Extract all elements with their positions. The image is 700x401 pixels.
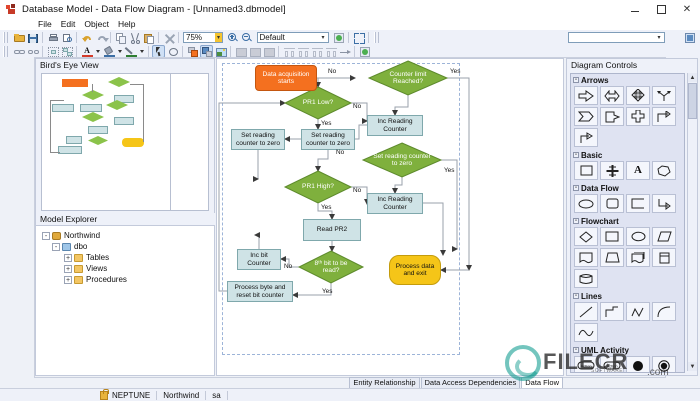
diagram-canvas[interactable]: Counter limit Reached? PR1 Low? Set read…	[216, 58, 564, 376]
toolbar-separator	[230, 46, 231, 57]
toolbar-area: 75% ▾ Default ▾ ▾	[0, 30, 700, 58]
zoom-out-icon[interactable]	[240, 31, 253, 44]
group-data-flow[interactable]: -Data Flow	[571, 182, 684, 194]
group-flowchart[interactable]: -Flowchart	[571, 215, 684, 227]
chevron-arrow-icon[interactable]	[574, 107, 598, 126]
chevron-down-icon[interactable]: ▾	[215, 33, 222, 42]
combobox-action-icon[interactable]	[683, 31, 696, 44]
edge-label-no: No	[328, 68, 336, 75]
print-preview-icon[interactable]	[60, 31, 73, 44]
tree-item-dbo[interactable]: - dbo	[36, 241, 214, 252]
align-left-icon[interactable]	[234, 45, 247, 58]
edge-label-no: No	[284, 263, 292, 270]
tree-expander-icon[interactable]: +	[64, 276, 72, 284]
link-icon[interactable]	[12, 45, 25, 58]
chevron-down-icon[interactable]: ▾	[319, 33, 328, 42]
svg-text:Action: Action	[580, 364, 591, 369]
right-combobox[interactable]: ▾	[568, 32, 665, 43]
arc-icon[interactable]	[652, 302, 676, 321]
delete-icon[interactable]	[162, 31, 175, 44]
open-folder-icon[interactable]	[12, 31, 25, 44]
activity-end-icon[interactable]: Action	[600, 356, 624, 373]
split-arrow-icon[interactable]	[652, 86, 676, 105]
copy-icon[interactable]	[114, 31, 127, 44]
tree-item-label: dbo	[74, 242, 87, 251]
menu-item-file[interactable]: File	[38, 18, 52, 30]
server-lock-icon	[100, 391, 108, 400]
toolbar-separator	[182, 46, 183, 57]
toolbar-separator	[278, 46, 279, 57]
align-grid-icon[interactable]	[46, 45, 59, 58]
tree-item-label: Tables	[86, 253, 109, 262]
status-server: NEPTUNE	[112, 391, 150, 400]
scroll-up-icon[interactable]: ▲	[688, 73, 697, 82]
distribute-h-icon[interactable]	[282, 45, 295, 58]
tree-item-tables[interactable]: + Tables	[36, 252, 214, 263]
align-right-icon[interactable]	[262, 45, 275, 58]
edge-label-yes: Yes	[322, 288, 332, 295]
lasso-tool-icon[interactable]	[166, 45, 179, 58]
card-icon[interactable]	[652, 248, 676, 267]
group-expander-icon[interactable]: -	[573, 185, 579, 191]
node-inc-bit-counter[interactable]: Inc bit Counter	[237, 249, 281, 270]
tab-data-access-dependencies[interactable]: Data Access Dependencies	[421, 377, 521, 388]
birds-eye-view-title: Bird's Eye View	[36, 59, 214, 71]
scrollbar-thumb[interactable]	[688, 83, 697, 119]
edge-label-no: No	[353, 187, 361, 194]
tree-item-label: Procedures	[86, 275, 127, 284]
elbow-arrow-icon[interactable]	[652, 107, 676, 126]
straight-line-icon[interactable]	[574, 302, 598, 321]
connector-icon[interactable]	[338, 45, 351, 58]
scroll-down-icon[interactable]: ▼	[688, 362, 697, 371]
group-expander-icon[interactable]: -	[573, 218, 579, 224]
node-set-reading-counter-to-zero-2[interactable]: Set reading counter to zero	[301, 129, 355, 150]
ellipse-icon[interactable]	[574, 194, 598, 213]
app-icon	[6, 4, 17, 15]
zoom-combobox[interactable]: 75% ▾	[183, 32, 223, 43]
wave-line-icon[interactable]	[574, 323, 598, 342]
menu-item-object[interactable]: Object	[84, 18, 109, 30]
left-pane: Bird's Eye View	[35, 58, 215, 376]
toolbar-grip[interactable]	[3, 32, 9, 43]
tree-expander-icon[interactable]: +	[64, 254, 72, 262]
toolbar-separator	[148, 46, 149, 57]
chevron-down-icon[interactable]: ▾	[655, 33, 664, 42]
pointer-tool-icon[interactable]	[152, 45, 165, 58]
status-bar: NEPTUNE Northwind sa	[0, 388, 700, 401]
node-inc-reading-counter-1[interactable]: Inc Reading Counter	[367, 115, 423, 136]
group-expander-icon[interactable]: -	[573, 152, 579, 158]
document-icon[interactable]	[574, 248, 598, 267]
controls-scrollbar[interactable]: ▲ ▼	[687, 73, 697, 371]
fill-color-icon[interactable]	[102, 45, 115, 58]
database-icon	[52, 232, 61, 240]
double-arrow-icon[interactable]	[600, 86, 624, 105]
tab-data-flow[interactable]: Data Flow	[521, 377, 563, 388]
edge-label-yes: Yes	[321, 204, 331, 211]
data-store-icon[interactable]	[652, 194, 676, 213]
node-set-reading-counter-to-zero-1[interactable]: Set reading counter to zero	[231, 129, 285, 150]
image-icon[interactable]	[214, 45, 227, 58]
minimize-button[interactable]	[622, 0, 648, 18]
export-icon[interactable]	[358, 45, 371, 58]
window-title: Database Model - Data Flow Diagram - [Un…	[22, 4, 286, 15]
group-uml-activity[interactable]: -UML Activity	[571, 344, 684, 356]
trapezoid-icon[interactable]	[600, 248, 624, 267]
diagram-controls-title: Diagram Controls	[567, 59, 697, 71]
toolbar-separator	[178, 32, 179, 43]
schema-icon	[62, 243, 71, 251]
font-color-dropdown[interactable]	[94, 45, 101, 58]
window-controls: ✕	[622, 0, 700, 18]
folder-icon	[74, 276, 83, 284]
fit-to-window-icon[interactable]	[352, 31, 365, 44]
edge-label-no: No	[353, 103, 361, 110]
toolbar-separator	[42, 46, 43, 57]
node-process-data-and-exit[interactable]: Process data and exit	[389, 255, 441, 285]
tree-item-views[interactable]: + Views	[36, 263, 214, 274]
tree-expander-icon[interactable]: -	[42, 232, 50, 240]
right-pane: Diagram Controls -Arrows -Basic A	[566, 58, 698, 376]
group-expander-icon[interactable]: -	[573, 347, 579, 353]
close-button[interactable]: ✕	[674, 0, 700, 18]
status-database: Northwind	[163, 391, 199, 400]
menu-item-help[interactable]: Help	[118, 18, 135, 30]
toolbar-separator	[110, 32, 111, 43]
status-separator	[205, 391, 206, 400]
activity-start-icon[interactable]: Action	[574, 356, 598, 373]
step-line-icon[interactable]	[600, 302, 624, 321]
toolbar-separator	[76, 46, 77, 57]
process-rect-icon[interactable]	[600, 227, 624, 246]
status-user: sa	[212, 391, 220, 400]
toolbar-grip[interactable]	[3, 46, 9, 57]
four-way-arrow-icon[interactable]	[626, 86, 650, 105]
status-separator	[156, 391, 157, 400]
snap-grid-icon[interactable]	[60, 45, 73, 58]
toolbar-row-1: 75% ▾ Default ▾ ▾	[0, 30, 700, 44]
zoom-value: 75%	[184, 33, 202, 42]
align-center-icon[interactable]	[248, 45, 261, 58]
plus-cross-icon[interactable]	[600, 161, 624, 180]
terminator-oval-icon[interactable]	[626, 227, 650, 246]
group-label: Arrows	[581, 76, 609, 85]
tab-entity-relationship[interactable]: Entity Relationship	[349, 377, 419, 388]
space-v-icon[interactable]	[324, 45, 337, 58]
application-window: Database Model - Data Flow Diagram - [Un…	[0, 0, 700, 400]
edge-label-no: No	[336, 149, 344, 156]
group-label: Basic	[581, 151, 602, 160]
multi-document-icon[interactable]	[626, 248, 650, 267]
paste-icon[interactable]	[142, 31, 155, 44]
tree-expander-icon[interactable]: +	[64, 265, 72, 273]
model-explorer-title: Model Explorer	[36, 213, 218, 225]
cylinder-icon[interactable]	[574, 269, 598, 288]
folder-icon	[74, 254, 83, 262]
tree-item-label: Views	[86, 264, 107, 273]
group-label: UML Activity	[581, 346, 629, 355]
group-expander-icon[interactable]: -	[573, 77, 579, 83]
toolbar-separator	[354, 46, 355, 57]
block-arrow-right-icon[interactable]	[574, 86, 598, 105]
font-color-icon[interactable]: A	[80, 45, 93, 58]
flow-connectors	[217, 59, 563, 375]
rectangle-icon[interactable]	[574, 161, 598, 180]
diagram-tabs: Entity Relationship Data Access Dependen…	[216, 377, 564, 388]
filled-circle-icon[interactable]	[626, 356, 650, 373]
refresh-style-icon[interactable]	[332, 31, 345, 44]
decision-diamond-icon[interactable]	[574, 227, 598, 246]
toolbar-row-2: A	[0, 44, 700, 58]
toolbar-separator	[348, 32, 349, 43]
menu-item-edit[interactable]: Edit	[61, 18, 76, 30]
group-label: Data Flow	[581, 184, 619, 193]
zoom-in-icon[interactable]	[226, 31, 239, 44]
folder-icon	[74, 265, 83, 273]
polyline-icon[interactable]	[626, 302, 650, 321]
group-label: Lines	[581, 292, 602, 301]
model-explorer-tree[interactable]: - Northwind - dbo + Tables + Views +	[36, 225, 214, 375]
group-label: Flowchart	[581, 217, 619, 226]
status-separator	[227, 391, 228, 400]
tree-expander-icon[interactable]: -	[52, 243, 60, 251]
node-process-byte-reset-bit-counter[interactable]: Process byte and reset bit counter	[227, 281, 293, 302]
redo-icon[interactable]	[94, 31, 107, 44]
diagram-controls-list[interactable]: -Arrows -Basic A -Data Flow	[570, 73, 685, 373]
toolbar-separator	[76, 32, 77, 43]
notched-arrow-icon[interactable]	[600, 107, 624, 126]
save-icon[interactable]	[26, 31, 39, 44]
space-h-icon[interactable]	[310, 45, 323, 58]
open-rect-icon[interactable]	[626, 194, 650, 213]
edge-label-yes: Yes	[444, 167, 454, 174]
node-read-pr2[interactable]: Read PR2	[303, 219, 361, 241]
unlink-icon[interactable]	[26, 45, 39, 58]
cut-icon[interactable]	[128, 31, 141, 44]
freeform-icon[interactable]	[652, 161, 676, 180]
group-lines[interactable]: -Lines	[571, 290, 684, 302]
print-icon[interactable]	[46, 31, 59, 44]
group-arrows[interactable]: -Arrows	[571, 74, 684, 86]
group-expander-icon[interactable]: -	[573, 293, 579, 299]
toolbar-separator	[42, 32, 43, 43]
tree-item-label: Northwind	[64, 231, 100, 240]
title-bar: Database Model - Data Flow Diagram - [Un…	[0, 0, 700, 19]
toolbar-grip[interactable]	[374, 32, 380, 43]
final-node-icon[interactable]	[652, 356, 676, 373]
style-value: Default	[258, 33, 285, 42]
distribute-v-icon[interactable]	[296, 45, 309, 58]
bent-arrow-icon[interactable]	[574, 128, 598, 147]
menu-bar: File Edit Object Help	[0, 18, 700, 30]
node-inc-reading-counter-2[interactable]: Inc Reading Counter	[367, 193, 423, 214]
cross-arrow-icon[interactable]	[626, 107, 650, 126]
bring-front-icon[interactable]	[186, 45, 199, 58]
toolbar-separator	[368, 32, 369, 43]
group-basic[interactable]: -Basic	[571, 149, 684, 161]
edge-label-yes: Yes	[450, 68, 460, 75]
toolbar-separator	[158, 32, 159, 43]
style-combobox[interactable]: Default ▾	[257, 32, 329, 43]
svg-text:Action: Action	[606, 364, 617, 369]
tree-item-northwind[interactable]: - Northwind	[36, 230, 214, 241]
text-letter-icon[interactable]: A	[626, 161, 650, 180]
node-data-acquisition-starts[interactable]: Data acquisition starts	[255, 65, 317, 91]
fill-color-dropdown[interactable]	[116, 45, 123, 58]
undo-icon[interactable]	[80, 31, 93, 44]
line-color-icon[interactable]	[124, 45, 137, 58]
line-color-dropdown[interactable]	[138, 45, 145, 58]
maximize-button[interactable]	[648, 0, 674, 18]
parallelogram-icon[interactable]	[652, 227, 676, 246]
rounded-rect-icon[interactable]	[600, 194, 624, 213]
birds-eye-view[interactable]	[41, 73, 209, 211]
send-back-icon[interactable]	[200, 45, 213, 58]
tree-item-procedures[interactable]: + Procedures	[36, 274, 214, 285]
minimap-thumbnail	[44, 76, 166, 166]
edge-label-yes: Yes	[321, 120, 331, 127]
